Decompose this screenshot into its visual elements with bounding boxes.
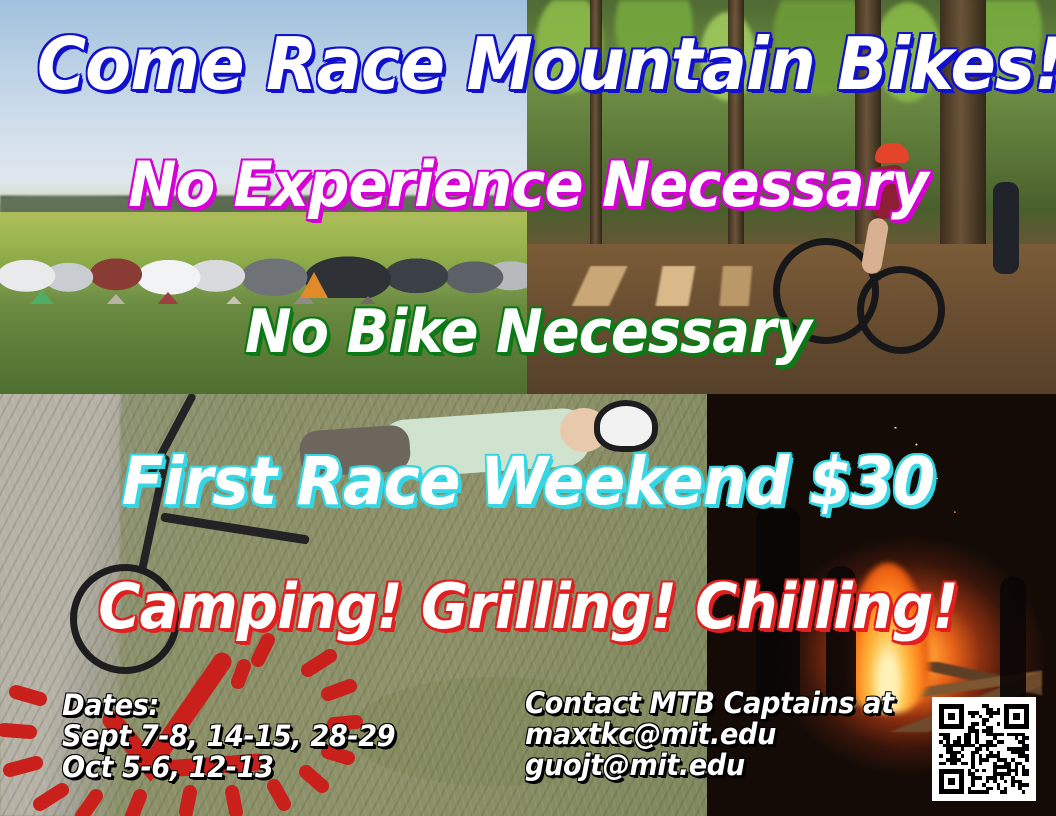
fallen-wheel [70,564,180,674]
photo-campground [0,0,527,394]
dates-label: Dates: [62,690,395,721]
person-silhouette [1000,576,1026,706]
person-silhouette [756,506,800,706]
rider-shorts [299,424,412,478]
rider-helmet [875,143,909,163]
mtb-recruitment-poster: Come Race Mountain Bikes! No Experience … [0,0,1056,816]
hill-treeline [0,170,527,216]
foreground-grass [0,304,527,394]
contact-heading: Contact MTB Captains at [525,688,894,719]
rider-helmet [594,400,658,452]
dates-block: Dates: Sept 7-8, 14-15, 28-29 Oct 5-6, 1… [62,690,395,783]
contact-email-max[interactable]: maxtkc@mit.edu [525,719,894,750]
qr-code[interactable] [932,697,1036,801]
photo-forest-trail [527,0,1056,394]
dates-october: Oct 5-6, 12-13 [62,752,395,783]
dates-september: Sept 7-8, 14-15, 28-29 [62,721,395,752]
contact-block: Contact MTB Captains at maxtkc@mit.edu g… [525,688,894,781]
contact-email-guo[interactable]: guojt@mit.edu [525,750,894,781]
bike-rear-wheel [857,266,945,354]
rider-torso [868,164,911,221]
bystander [993,182,1019,274]
